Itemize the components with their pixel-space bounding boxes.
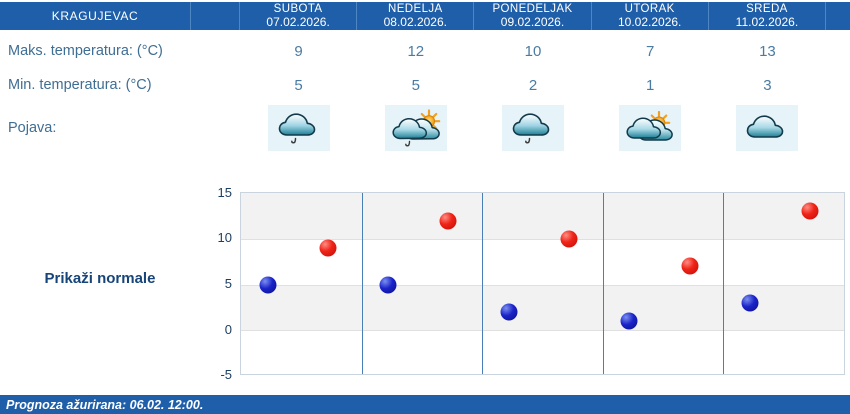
chart-shaded-band <box>241 193 844 239</box>
min-temperature-value: 3 <box>709 77 826 94</box>
day-column-header: SREDA 11.02.2026. <box>709 2 826 30</box>
max-temp-marker <box>802 203 819 220</box>
cloud-drizzle-icon <box>510 108 556 148</box>
weather-icon-tile <box>502 105 564 151</box>
forecast-header: KRAGUJEVAC SUBOTA 07.02.2026. NEDELJA 08… <box>0 2 850 30</box>
max-temp-marker <box>319 239 336 256</box>
day-column-header: NEDELJA 08.02.2026. <box>357 2 474 30</box>
phenomenon-cell <box>240 105 357 151</box>
max-temp-marker <box>681 258 698 275</box>
day-column-header: UTORAK 10.02.2026. <box>592 2 709 30</box>
max-temp-marker <box>561 230 578 247</box>
phenomenon-label: Pojava: <box>0 120 190 136</box>
day-date: 07.02.2026. <box>266 16 329 29</box>
min-temp-marker <box>500 304 517 321</box>
max-temperature-value: 10 <box>474 43 591 60</box>
phenomenon-row: Pojava: <box>0 103 850 153</box>
forecast-updated-bar: Prognoza ažurirana: 06.02. 12:00. <box>0 395 850 414</box>
chart-day-separator <box>723 193 724 374</box>
chart-day-separator <box>603 193 604 374</box>
y-axis-tick: -5 <box>190 368 232 381</box>
max-temperature-value: 9 <box>240 43 357 60</box>
min-temp-marker <box>259 276 276 293</box>
city-name: KRAGUJEVAC <box>0 2 190 30</box>
phenomenon-cell <box>709 105 826 151</box>
min-temperature-value: 5 <box>357 77 474 94</box>
day-date: 10.02.2026. <box>618 16 681 29</box>
phenomenon-cell <box>474 105 591 151</box>
chart-gridline <box>241 330 844 331</box>
chart-plot-area <box>240 192 845 375</box>
sun-behind-cloud-drizzle-icon <box>391 108 441 148</box>
day-date: 08.02.2026. <box>384 16 447 29</box>
weather-icon-tile <box>385 105 447 151</box>
phenomenon-cell <box>592 105 709 151</box>
min-temperature-value: 5 <box>240 77 357 94</box>
weather-icon-tile <box>619 105 681 151</box>
max-temperature-value: 12 <box>357 43 474 60</box>
y-axis-tick: 5 <box>190 277 232 290</box>
forecast-updated-text: Prognoza ažurirana: 06.02. 12:00. <box>6 398 203 412</box>
cloud-drizzle-icon <box>276 108 322 148</box>
min-temp-marker <box>621 313 638 330</box>
day-date: 09.02.2026. <box>501 16 564 29</box>
cloud-icon <box>744 108 790 148</box>
phenomenon-cell <box>357 105 474 151</box>
header-tail-cell <box>826 2 850 30</box>
max-temperature-value: 7 <box>592 43 709 60</box>
y-axis-tick: 15 <box>190 186 232 199</box>
temperature-chart: Prikaži normale 15 10 5 0 -5 <box>0 170 850 385</box>
max-temperature-row: Maks. temperatura: (°C) 9 12 10 7 13 <box>0 38 850 64</box>
header-spacer <box>190 2 240 30</box>
y-axis-tick: 10 <box>190 231 232 244</box>
day-date: 11.02.2026. <box>736 16 799 29</box>
show-normals-toggle[interactable]: Prikaži normale <box>0 270 200 287</box>
min-temperature-value: 1 <box>592 77 709 94</box>
min-temperature-row: Min. temperatura: (°C) 5 5 2 1 3 <box>0 72 850 98</box>
weather-icon-tile <box>268 105 330 151</box>
min-temp-marker <box>380 276 397 293</box>
weather-icon-tile <box>736 105 798 151</box>
chart-day-separator <box>362 193 363 374</box>
chart-gridline <box>241 285 844 286</box>
max-temperature-value: 13 <box>709 43 826 60</box>
day-column-header: SUBOTA 07.02.2026. <box>240 2 357 30</box>
y-axis-tick: 0 <box>190 323 232 336</box>
day-column-header: PONEDELJAK 09.02.2026. <box>474 2 591 30</box>
chart-day-separator <box>482 193 483 374</box>
min-temperature-value: 2 <box>474 77 591 94</box>
sun-behind-cloud-icon <box>625 108 675 148</box>
max-temp-marker <box>440 212 457 229</box>
min-temperature-label: Min. temperatura: (°C) <box>0 77 190 93</box>
min-temp-marker <box>741 294 758 311</box>
max-temperature-label: Maks. temperatura: (°C) <box>0 43 190 59</box>
